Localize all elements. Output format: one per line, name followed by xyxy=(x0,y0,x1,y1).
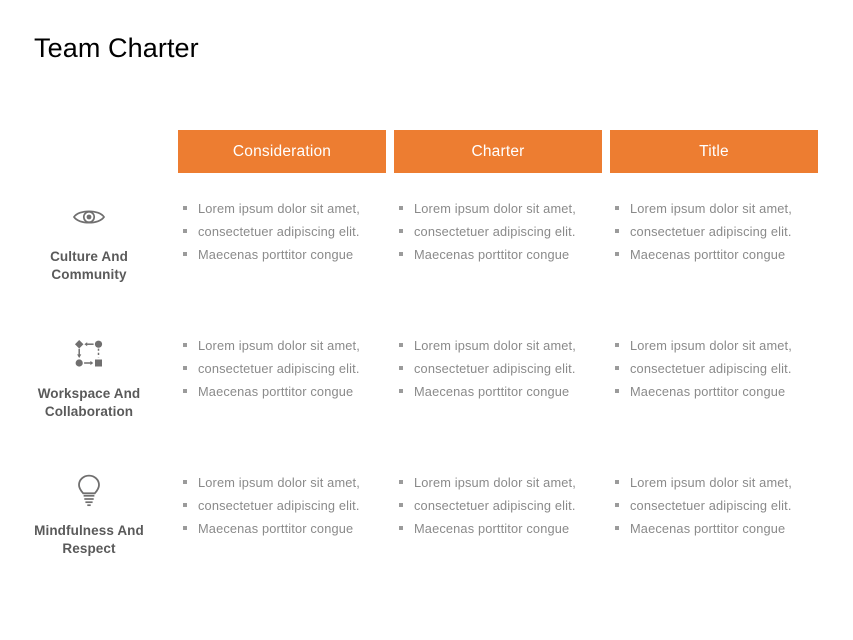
list-item: consectetuer adipiscing elit. xyxy=(610,221,818,243)
list-item: consectetuer adipiscing elit. xyxy=(394,221,602,243)
table-row: Workspace And Collaboration Lorem ipsum … xyxy=(0,327,853,464)
list-item: Maecenas porttitor congue xyxy=(178,244,386,266)
list-item-text: consectetuer adipiscing elit. xyxy=(630,224,792,239)
bullet-square-icon xyxy=(615,343,619,347)
bullet-list: Lorem ipsum dolor sit amet, consectetuer… xyxy=(610,335,818,403)
row-label-cell-workspace-and-collaboration: Workspace And Collaboration xyxy=(0,327,178,464)
row-label: Culture And Community xyxy=(14,248,164,283)
column-header-row: Consideration Charter Title xyxy=(178,130,818,173)
bullet-square-icon xyxy=(399,503,403,507)
list-item: Maecenas porttitor congue xyxy=(610,381,818,403)
bullet-square-icon xyxy=(183,252,187,256)
bullet-square-icon xyxy=(183,366,187,370)
list-item-text: Maecenas porttitor congue xyxy=(198,384,353,399)
row-label-cell-culture-and-community: Culture And Community xyxy=(0,190,178,327)
list-item: Lorem ipsum dolor sit amet, xyxy=(610,198,818,220)
cell-workspace-charter: Lorem ipsum dolor sit amet, consectetuer… xyxy=(394,327,602,464)
list-item: consectetuer adipiscing elit. xyxy=(178,221,386,243)
network-nodes-icon xyxy=(72,337,106,371)
list-item-text: consectetuer adipiscing elit. xyxy=(198,361,360,376)
list-item: Maecenas porttitor congue xyxy=(394,518,602,540)
bullet-square-icon xyxy=(399,480,403,484)
cell-workspace-consideration: Lorem ipsum dolor sit amet, consectetuer… xyxy=(178,327,386,464)
bullet-square-icon xyxy=(183,526,187,530)
list-item-text: consectetuer adipiscing elit. xyxy=(198,224,360,239)
bullet-square-icon xyxy=(183,480,187,484)
list-item-text: Lorem ipsum dolor sit amet, xyxy=(198,475,360,490)
bullet-list: Lorem ipsum dolor sit amet, consectetuer… xyxy=(394,335,602,403)
bullet-list: Lorem ipsum dolor sit amet, consectetuer… xyxy=(178,198,386,266)
row-label: Mindfulness And Respect xyxy=(14,522,164,557)
list-item: Lorem ipsum dolor sit amet, xyxy=(394,472,602,494)
list-item-text: Maecenas porttitor congue xyxy=(198,247,353,262)
bullet-list: Lorem ipsum dolor sit amet, consectetuer… xyxy=(610,198,818,266)
list-item-text: consectetuer adipiscing elit. xyxy=(414,224,576,239)
list-item-text: Lorem ipsum dolor sit amet, xyxy=(414,475,576,490)
cell-culture-charter: Lorem ipsum dolor sit amet, consectetuer… xyxy=(394,190,602,327)
list-item-text: consectetuer adipiscing elit. xyxy=(630,361,792,376)
list-item: Lorem ipsum dolor sit amet, xyxy=(394,198,602,220)
column-header-charter[interactable]: Charter xyxy=(394,130,602,173)
list-item-text: consectetuer adipiscing elit. xyxy=(630,498,792,513)
bullet-square-icon xyxy=(183,229,187,233)
row-label: Workspace And Collaboration xyxy=(14,385,164,420)
cell-culture-title: Lorem ipsum dolor sit amet, consectetuer… xyxy=(610,190,818,327)
eye-icon xyxy=(72,200,106,234)
list-item: Maecenas porttitor congue xyxy=(178,518,386,540)
list-item: Lorem ipsum dolor sit amet, xyxy=(394,335,602,357)
list-item-text: Maecenas porttitor congue xyxy=(630,247,785,262)
bullet-square-icon xyxy=(399,343,403,347)
bullet-list: Lorem ipsum dolor sit amet, consectetuer… xyxy=(394,198,602,266)
lightbulb-icon xyxy=(72,474,106,508)
bullet-list: Lorem ipsum dolor sit amet, consectetuer… xyxy=(610,472,818,540)
list-item-text: Maecenas porttitor congue xyxy=(630,384,785,399)
cell-mindfulness-title: Lorem ipsum dolor sit amet, consectetuer… xyxy=(610,464,818,601)
list-item-text: Lorem ipsum dolor sit amet, xyxy=(198,201,360,216)
list-item-text: Lorem ipsum dolor sit amet, xyxy=(414,338,576,353)
list-item-text: Maecenas porttitor congue xyxy=(630,521,785,536)
bullet-square-icon xyxy=(399,206,403,210)
bullet-square-icon xyxy=(615,206,619,210)
list-item: Lorem ipsum dolor sit amet, xyxy=(178,472,386,494)
table-row: Culture And Community Lorem ipsum dolor … xyxy=(0,190,853,327)
list-item-text: Maecenas porttitor congue xyxy=(414,521,569,536)
list-item-text: Maecenas porttitor congue xyxy=(198,521,353,536)
bullet-square-icon xyxy=(399,526,403,530)
column-header-title[interactable]: Title xyxy=(610,130,818,173)
list-item-text: consectetuer adipiscing elit. xyxy=(414,361,576,376)
list-item: Maecenas porttitor congue xyxy=(610,244,818,266)
list-item: consectetuer adipiscing elit. xyxy=(610,495,818,517)
row-label-cell-mindfulness-and-respect: Mindfulness And Respect xyxy=(0,464,178,601)
bullet-square-icon xyxy=(183,206,187,210)
bullet-square-icon xyxy=(399,389,403,393)
list-item: Maecenas porttitor congue xyxy=(394,244,602,266)
list-item-text: Lorem ipsum dolor sit amet, xyxy=(414,201,576,216)
list-item: Lorem ipsum dolor sit amet, xyxy=(610,472,818,494)
row-columns: Lorem ipsum dolor sit amet, consectetuer… xyxy=(178,327,853,464)
list-item: Maecenas porttitor congue xyxy=(394,381,602,403)
cell-workspace-title: Lorem ipsum dolor sit amet, consectetuer… xyxy=(610,327,818,464)
bullet-square-icon xyxy=(615,480,619,484)
list-item-text: Lorem ipsum dolor sit amet, xyxy=(198,338,360,353)
bullet-square-icon xyxy=(615,526,619,530)
list-item: consectetuer adipiscing elit. xyxy=(394,358,602,380)
bullet-square-icon xyxy=(183,503,187,507)
list-item-text: Lorem ipsum dolor sit amet, xyxy=(630,201,792,216)
row-columns: Lorem ipsum dolor sit amet, consectetuer… xyxy=(178,190,853,327)
bullet-square-icon xyxy=(399,252,403,256)
content-rows: Culture And Community Lorem ipsum dolor … xyxy=(0,190,853,601)
list-item: Maecenas porttitor congue xyxy=(610,518,818,540)
table-row: Mindfulness And Respect Lorem ipsum dolo… xyxy=(0,464,853,601)
list-item: consectetuer adipiscing elit. xyxy=(610,358,818,380)
list-item: Lorem ipsum dolor sit amet, xyxy=(178,335,386,357)
list-item-text: Lorem ipsum dolor sit amet, xyxy=(630,338,792,353)
list-item: Lorem ipsum dolor sit amet, xyxy=(178,198,386,220)
list-item: consectetuer adipiscing elit. xyxy=(178,495,386,517)
bullet-list: Lorem ipsum dolor sit amet, consectetuer… xyxy=(178,335,386,403)
list-item-text: consectetuer adipiscing elit. xyxy=(414,498,576,513)
cell-culture-consideration: Lorem ipsum dolor sit amet, consectetuer… xyxy=(178,190,386,327)
bullet-square-icon xyxy=(183,389,187,393)
bullet-square-icon xyxy=(615,366,619,370)
bullet-square-icon xyxy=(615,503,619,507)
column-header-consideration[interactable]: Consideration xyxy=(178,130,386,173)
list-item: consectetuer adipiscing elit. xyxy=(178,358,386,380)
bullet-square-icon xyxy=(399,366,403,370)
list-item-text: Maecenas porttitor congue xyxy=(414,247,569,262)
cell-mindfulness-charter: Lorem ipsum dolor sit amet, consectetuer… xyxy=(394,464,602,601)
bullet-square-icon xyxy=(615,229,619,233)
bullet-square-icon xyxy=(615,389,619,393)
list-item-text: Maecenas porttitor congue xyxy=(414,384,569,399)
bullet-list: Lorem ipsum dolor sit amet, consectetuer… xyxy=(178,472,386,540)
slide-canvas: Team Charter Consideration Charter Title… xyxy=(0,0,853,640)
list-item: consectetuer adipiscing elit. xyxy=(394,495,602,517)
list-item-text: Lorem ipsum dolor sit amet, xyxy=(630,475,792,490)
bullet-square-icon xyxy=(615,252,619,256)
bullet-square-icon xyxy=(183,343,187,347)
page-title: Team Charter xyxy=(34,33,199,64)
list-item: Lorem ipsum dolor sit amet, xyxy=(610,335,818,357)
row-columns: Lorem ipsum dolor sit amet, consectetuer… xyxy=(178,464,853,601)
bullet-square-icon xyxy=(399,229,403,233)
bullet-list: Lorem ipsum dolor sit amet, consectetuer… xyxy=(394,472,602,540)
cell-mindfulness-consideration: Lorem ipsum dolor sit amet, consectetuer… xyxy=(178,464,386,601)
list-item: Maecenas porttitor congue xyxy=(178,381,386,403)
list-item-text: consectetuer adipiscing elit. xyxy=(198,498,360,513)
